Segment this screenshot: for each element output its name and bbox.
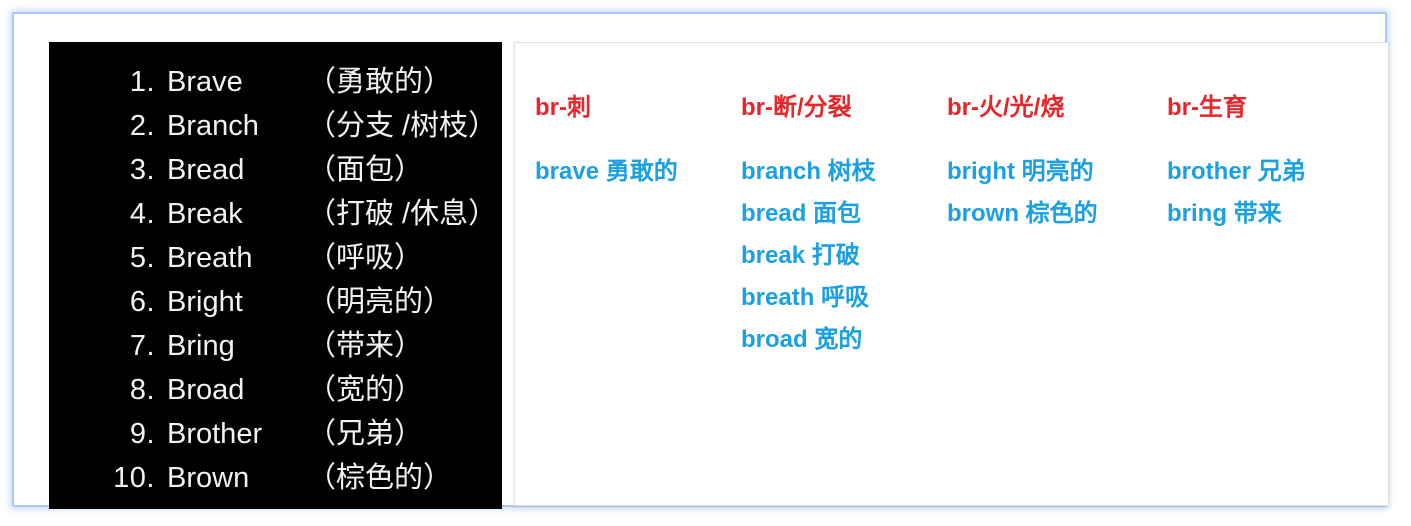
root-group-word: bright 明亮的	[947, 151, 1098, 193]
vocabulary-item: 9.Brother（兄弟）	[49, 410, 502, 454]
root-group-word: break 打破	[741, 235, 876, 277]
root-group-column: br-火/光/烧bright 明亮的brown 棕色的	[947, 93, 1098, 235]
vocabulary-item: 3.Bread（面包）	[49, 146, 502, 190]
vocabulary-item: 5.Breath（呼吸）	[49, 234, 502, 278]
vocabulary-item-index: 7.	[49, 330, 167, 363]
vocabulary-item-gloss: （呼吸）	[307, 234, 423, 276]
vocabulary-item: 8.Broad（宽的）	[49, 366, 502, 410]
vocabulary-item-word: Breath	[167, 242, 307, 275]
root-group-panel: br-刺brave 勇敢的br-断/分裂branch 树枝bread 面包bre…	[514, 42, 1389, 506]
vocabulary-item-index: 1.	[49, 66, 167, 99]
vocabulary-item-index: 3.	[49, 154, 167, 187]
vocabulary-item-index: 6.	[49, 286, 167, 319]
root-group-heading: br-火/光/烧	[947, 93, 1098, 123]
root-group-heading: br-生育	[1167, 93, 1306, 123]
vocabulary-item-gloss: （勇敢的）	[307, 58, 452, 100]
root-group-word: brown 棕色的	[947, 193, 1098, 235]
root-group-word: broad 宽的	[741, 319, 876, 361]
vocabulary-item-gloss: （带来）	[307, 322, 423, 364]
root-group-word: bread 面包	[741, 193, 876, 235]
root-group-word-list: branch 树枝bread 面包break 打破breath 呼吸broad …	[741, 151, 876, 361]
vocabulary-item-gloss: （明亮的）	[307, 278, 452, 320]
vocabulary-item-index: 8.	[49, 374, 167, 407]
root-group-column: br-刺brave 勇敢的	[535, 93, 678, 193]
vocabulary-item-word: Broad	[167, 374, 307, 407]
vocabulary-item-index: 4.	[49, 198, 167, 231]
vocabulary-item: 6.Bright（明亮的）	[49, 278, 502, 322]
vocabulary-item-gloss: （宽的）	[307, 366, 423, 408]
vocabulary-item-index: 10.	[49, 462, 167, 495]
root-group-word-list: bright 明亮的brown 棕色的	[947, 151, 1098, 235]
root-group-word: bring 带来	[1167, 193, 1306, 235]
root-group-heading: br-断/分裂	[741, 93, 876, 123]
root-group-heading: br-刺	[535, 93, 678, 123]
vocabulary-item-gloss: （兄弟）	[307, 410, 423, 452]
vocabulary-item: 7.Bring（带来）	[49, 322, 502, 366]
vocabulary-item-word: Branch	[167, 110, 307, 143]
vocabulary-item: 1.Brave（勇敢的）	[49, 58, 502, 102]
slide-card: 1.Brave（勇敢的）2.Branch（分支 /树枝）3.Bread（面包）4…	[12, 12, 1387, 507]
root-group-word: branch 树枝	[741, 151, 876, 193]
root-group-column: br-生育brother 兄弟bring 带来	[1167, 93, 1306, 235]
vocabulary-item-gloss: （打破 /休息）	[307, 190, 497, 232]
vocabulary-item-word: Brother	[167, 418, 307, 451]
vocabulary-item: 10.Brown（棕色的）	[49, 454, 502, 498]
vocabulary-list: 1.Brave（勇敢的）2.Branch（分支 /树枝）3.Bread（面包）4…	[49, 58, 502, 498]
vocabulary-item-index: 9.	[49, 418, 167, 451]
vocabulary-list-panel: 1.Brave（勇敢的）2.Branch（分支 /树枝）3.Bread（面包）4…	[49, 42, 502, 509]
root-group-word: brother 兄弟	[1167, 151, 1306, 193]
root-group-column: br-断/分裂branch 树枝bread 面包break 打破breath 呼…	[741, 93, 876, 361]
vocabulary-item-gloss: （棕色的）	[307, 454, 452, 496]
vocabulary-item-gloss: （面包）	[307, 146, 423, 188]
vocabulary-item-word: Break	[167, 198, 307, 231]
vocabulary-item-word: Bread	[167, 154, 307, 187]
vocabulary-item-word: Brave	[167, 66, 307, 99]
vocabulary-item: 2.Branch（分支 /树枝）	[49, 102, 502, 146]
vocabulary-item-index: 2.	[49, 110, 167, 143]
root-group-word-list: brave 勇敢的	[535, 151, 678, 193]
root-group-word: breath 呼吸	[741, 277, 876, 319]
vocabulary-item: 4.Break（打破 /休息）	[49, 190, 502, 234]
vocabulary-item-index: 5.	[49, 242, 167, 275]
vocabulary-item-word: Bright	[167, 286, 307, 319]
vocabulary-item-word: Bring	[167, 330, 307, 363]
vocabulary-item-gloss: （分支 /树枝）	[307, 102, 497, 144]
root-group-word-list: brother 兄弟bring 带来	[1167, 151, 1306, 235]
vocabulary-item-word: Brown	[167, 462, 307, 495]
root-group-word: brave 勇敢的	[535, 151, 678, 193]
